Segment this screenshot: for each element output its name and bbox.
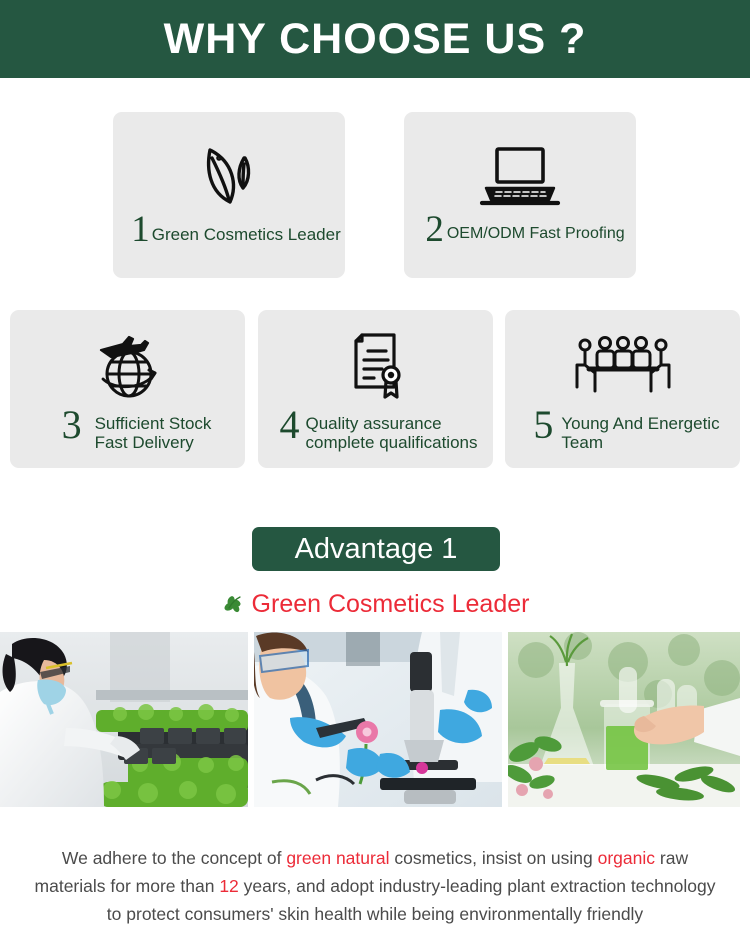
feature-card-5[interactable]: 5 Young And Energetic Team [505, 310, 740, 468]
why-choose-us-page: WHY CHOOSE US ? 1 Green Cosmetics Leader [0, 0, 750, 949]
feature-number-2: 2 [425, 212, 444, 247]
feature-label-5: Young And Energetic Team [561, 406, 719, 452]
feature-card-1-caption: 1 Green Cosmetics Leader [113, 212, 345, 247]
herb-leaf-icon [221, 592, 245, 616]
photo-gallery [0, 632, 750, 807]
leaf-icon [113, 138, 345, 212]
meeting-table-icon [505, 328, 740, 404]
advantage-subtitle: Green Cosmetics Leader [252, 592, 530, 617]
feature-card-4[interactable]: 4 Quality assurance complete qualificati… [258, 310, 493, 468]
feature-card-3[interactable]: 3 Sufficient Stock Fast Delivery [10, 310, 245, 468]
feature-number-3: 3 [62, 406, 82, 444]
feature-label-3: Sufficient Stock Fast Delivery [95, 406, 212, 452]
page-title: WHY CHOOSE US ? [164, 18, 587, 61]
globe-airplane-icon [10, 328, 245, 404]
laptop-icon [404, 138, 636, 212]
feature-label-4: Quality assurance complete qualification… [306, 406, 478, 452]
feature-label-1: Green Cosmetics Leader [152, 212, 341, 244]
feature-card-2[interactable]: 2 OEM/ODM Fast Proofing [404, 112, 636, 278]
feature-label-2: OEM/ODM Fast Proofing [447, 212, 625, 243]
advantage-badge: Advantage 1 [252, 527, 500, 571]
certificate-icon [258, 328, 493, 404]
description-highlight: 12 [219, 876, 238, 896]
feature-card-3-caption: 3 Sufficient Stock Fast Delivery [10, 406, 245, 452]
scientist-seedling-trays-photo [0, 632, 248, 807]
feature-number-1: 1 [131, 212, 150, 247]
feature-card-2-caption: 2 OEM/ODM Fast Proofing [404, 212, 636, 247]
advantage-badge-label: Advantage 1 [295, 535, 458, 564]
description-paragraph: We adhere to the concept of green natura… [25, 844, 725, 929]
feature-number-4: 4 [280, 406, 300, 444]
feature-number-5: 5 [533, 406, 553, 444]
description-text: We adhere to the concept of [62, 848, 286, 868]
description-highlight: organic [598, 848, 655, 868]
feature-card-1[interactable]: 1 Green Cosmetics Leader [113, 112, 345, 278]
feature-card-4-caption: 4 Quality assurance complete qualificati… [258, 406, 493, 452]
description-text: cosmetics, insist on using [389, 848, 597, 868]
feature-card-5-caption: 5 Young And Energetic Team [505, 406, 740, 452]
description-highlight: green natural [286, 848, 389, 868]
page-header-bar: WHY CHOOSE US ? [0, 0, 750, 78]
green-extract-glassware-photo [508, 632, 740, 807]
advantage-subtitle-row: Green Cosmetics Leader [0, 586, 750, 622]
microscope-flower-photo [254, 632, 502, 807]
